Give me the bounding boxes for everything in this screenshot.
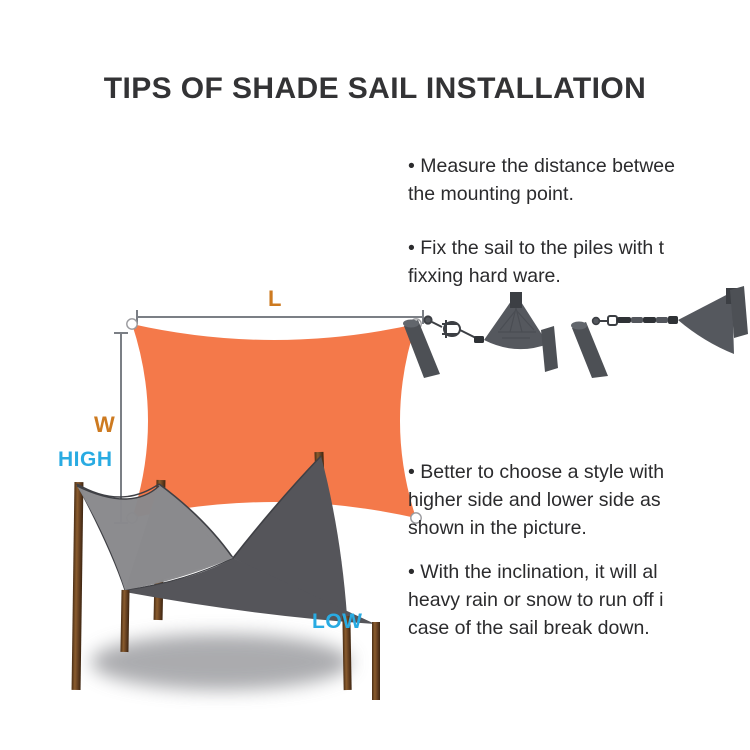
turnbuckle-icon xyxy=(424,316,476,338)
page-title: TIPS OF SHADE SAIL INSTALLATION xyxy=(0,72,750,106)
ground-shadow xyxy=(91,634,351,690)
triangular-sail-corner xyxy=(678,286,748,354)
tip-measure: • Measure the distance betwee the mounti… xyxy=(408,152,750,208)
tip-style: • Better to choose a style with higher s… xyxy=(408,458,750,542)
post-icon xyxy=(403,320,440,379)
high-label: HIGH xyxy=(58,448,113,472)
hypar-sail-diagram xyxy=(25,440,420,710)
chain-turnbuckle-icon xyxy=(593,316,678,325)
tip-inclination: • With the inclination, it will al heavy… xyxy=(408,558,750,642)
tip-fix: • Fix the sail to the piles with t fixxi… xyxy=(408,234,750,290)
infographic-page: TIPS OF SHADE SAIL INSTALLATION L W • Me… xyxy=(0,0,750,750)
length-label: L xyxy=(268,286,281,312)
clip-icon xyxy=(474,336,484,343)
post-low-corner xyxy=(372,622,380,700)
width-label: W xyxy=(94,412,115,438)
triangular-sail-corner xyxy=(484,292,558,372)
rectangular-sail-diagram: L W xyxy=(40,140,400,400)
low-label: LOW xyxy=(312,610,362,634)
hardware-illustration-pole-chain-sail xyxy=(566,286,750,378)
post-far-left-tall xyxy=(72,482,84,690)
post-icon xyxy=(571,322,608,379)
post-front-left xyxy=(120,590,129,652)
hardware-illustration-pole-turnbuckle-sail xyxy=(398,286,573,378)
